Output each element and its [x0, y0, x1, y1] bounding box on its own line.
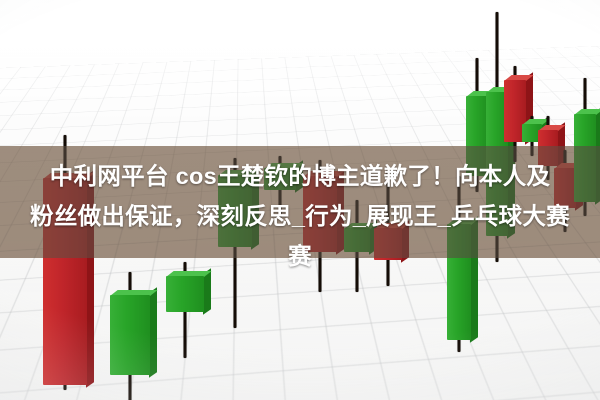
candle-body-2	[110, 295, 150, 375]
caption-line-1: 中利网平台 cos王楚钦的博主道歉了！向本人及	[50, 156, 550, 196]
banner-image: 中利网平台 cos王楚钦的博主道歉了！向本人及 粉丝做出保证，深刻反思_行为_展…	[0, 0, 600, 400]
candle-body-3	[166, 276, 204, 312]
caption-text: 中利网平台 cos王楚钦的博主道歉了！向本人及 粉丝做出保证，深刻反思_行为_展…	[0, 156, 600, 268]
caption-line-2: 粉丝做出保证，深刻反思_行为_展现王_乒乓球大赛	[30, 196, 570, 236]
caption-line-3: 赛	[288, 236, 312, 276]
